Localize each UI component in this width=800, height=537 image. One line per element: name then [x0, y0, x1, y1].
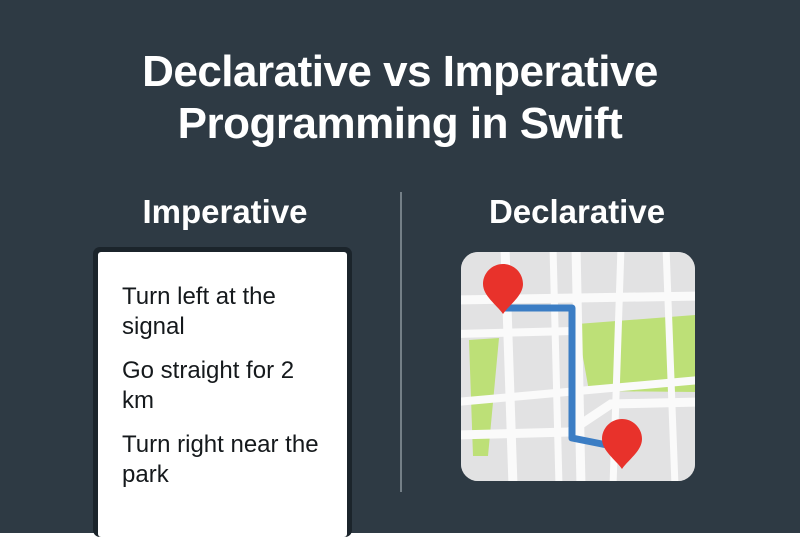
page-title: Declarative vs Imperative Programming in…: [0, 46, 800, 150]
imperative-instructions-card: Turn left at the signal Go straight for …: [93, 247, 352, 537]
declarative-map-card: [461, 252, 695, 481]
map-illustration: [461, 252, 695, 481]
instruction-list: Turn left at the signal Go straight for …: [98, 252, 347, 537]
poster-canvas: Declarative vs Imperative Programming in…: [0, 0, 800, 533]
column-heading-imperative: Imperative: [60, 192, 390, 232]
list-item: Go straight for 2 km: [122, 356, 325, 416]
page-title-line-1: Declarative vs Imperative: [0, 46, 800, 98]
column-heading-declarative: Declarative: [412, 192, 742, 232]
list-item: Turn left at the signal: [122, 282, 325, 342]
list-item: Turn right near the park: [122, 430, 325, 490]
page-title-line-2: Programming in Swift: [0, 98, 800, 150]
column-divider: [400, 192, 402, 492]
map-road-v3: [576, 252, 581, 481]
